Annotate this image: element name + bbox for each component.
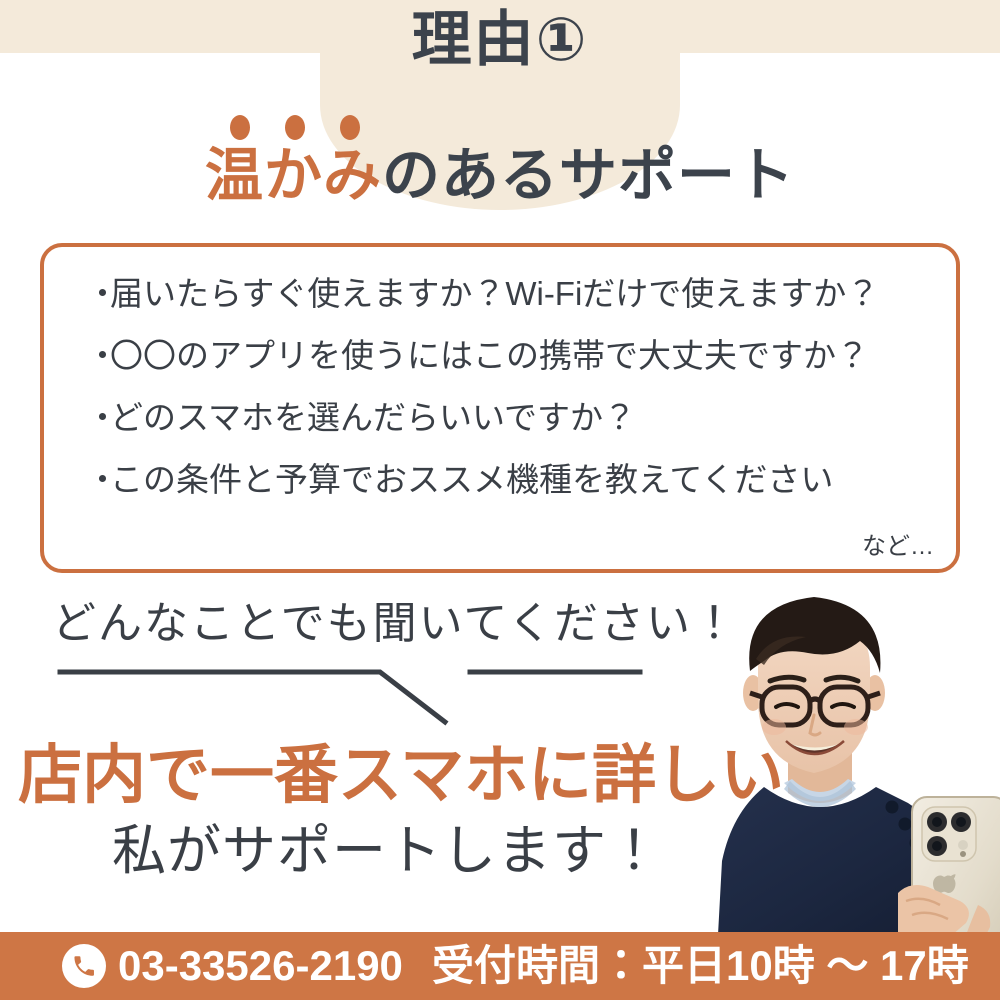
footer-business-hours: 受付時間：平日10時 ～ 17時 — [432, 942, 969, 990]
footer-phone-number[interactable]: 03-33526-2190 — [118, 942, 403, 990]
contact-footer-bar: 03-33526-2190 受付時間：平日10時 ～ 17時 — [0, 932, 1000, 1000]
speech-tail-underline — [40, 660, 660, 730]
bullet-marker: ・ — [86, 461, 110, 500]
question-text: どのスマホを選んだらいいですか？ — [110, 399, 636, 438]
emphasis-dot — [285, 115, 305, 140]
etcetera-note: など… — [862, 526, 934, 561]
question-text: 届いたらすぐ使えますか？Wi-Fiだけで使えますか？ — [110, 275, 879, 314]
reason-badge-label: 理由① — [0, 10, 1000, 70]
question-text: 〇〇のアプリを使うにはこの携帯で大丈夫ですか？ — [110, 337, 869, 376]
ask-anything-text: どんなことでも聞いてください！ — [52, 600, 738, 648]
emphasis-dot — [230, 115, 250, 140]
slogan-primary: 店内で一番スマホに詳しい — [18, 742, 784, 809]
list-item: ・ どのスマホを選んだらいいですか？ — [86, 399, 956, 438]
list-item: ・ この条件と予算でおススメ機種を教えてください — [86, 461, 956, 500]
question-text: この条件と予算でおススメ機種を教えてください — [110, 461, 833, 500]
list-item: ・ 〇〇のアプリを使うにはこの携帯で大丈夫ですか？ — [86, 337, 956, 376]
emphasis-dot — [340, 115, 360, 140]
list-item: ・ 届いたらすぐ使えますか？Wi-Fiだけで使えますか？ — [86, 275, 956, 314]
phone-icon — [62, 944, 106, 988]
bullet-marker: ・ — [86, 399, 110, 438]
question-list: ・ 届いたらすぐ使えますか？Wi-Fiだけで使えますか？ ・ 〇〇のアプリを使う… — [86, 275, 956, 523]
headline-accent: 温かみ — [205, 143, 382, 208]
emphasis-dots — [230, 115, 360, 140]
promo-page: 理由① 温かみのあるサポート ・ 届いたらすぐ使えますか？Wi-Fiだけで使えま… — [0, 0, 1000, 1000]
page-title: 温かみのあるサポート — [0, 143, 1000, 210]
headline-rest: のあるサポート — [382, 143, 795, 208]
bullet-marker: ・ — [86, 337, 110, 376]
bullet-marker: ・ — [86, 275, 110, 314]
slogan-secondary: 私がサポートします！ — [112, 822, 662, 881]
question-box: ・ 届いたらすぐ使えますか？Wi-Fiだけで使えますか？ ・ 〇〇のアプリを使う… — [40, 243, 960, 573]
